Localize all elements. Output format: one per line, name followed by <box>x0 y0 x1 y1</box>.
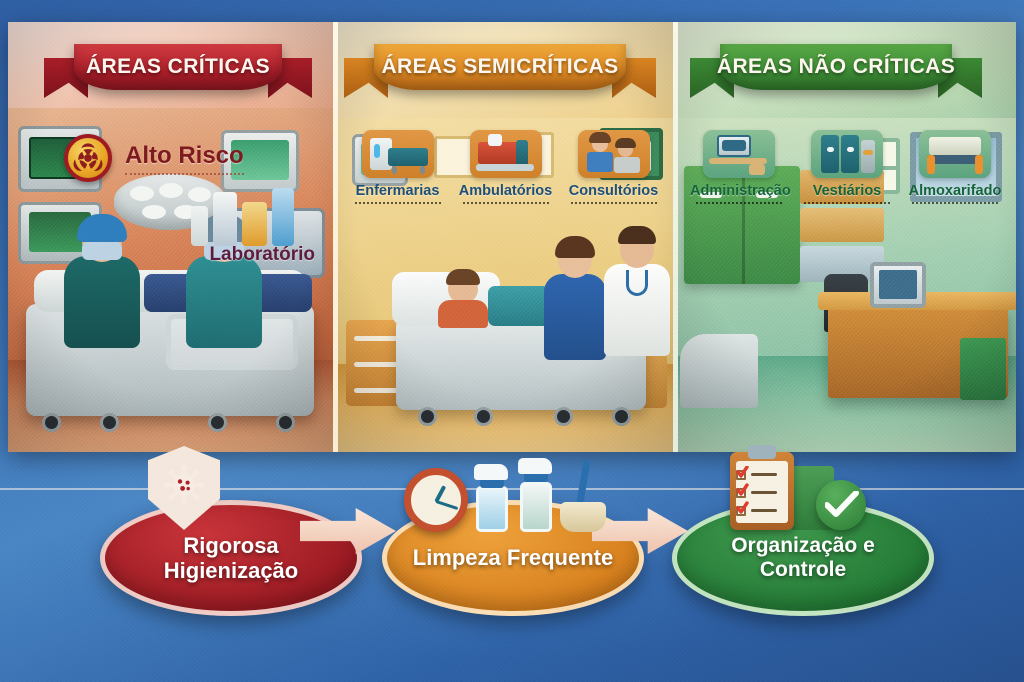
banner-areas-semicriticas: ÁREAS SEMICRÍTICAS <box>344 38 656 96</box>
alto-risco-label: Alto Risco <box>125 142 244 169</box>
nurse-figure <box>544 242 606 360</box>
flow-step-line2: Higienização <box>164 558 298 583</box>
item-ambulatorios[interactable]: Ambulatórios <box>457 130 555 204</box>
item-label: Consultórios <box>565 183 663 199</box>
patient-figure <box>436 274 490 326</box>
biohazard-icon <box>64 134 112 182</box>
semicritical-icon-row: Enfermarias Ambulatórios <box>338 130 673 204</box>
item-label: Administração <box>690 183 788 199</box>
alto-risco-badge: Alto Risco <box>64 134 244 182</box>
doctor-figure <box>604 232 670 356</box>
spray-bottle-icon <box>472 464 512 532</box>
banner-areas-criticas: ÁREAS CRÍTICAS <box>44 38 312 96</box>
banner-label: ÁREAS SEMICRÍTICAS <box>381 55 618 79</box>
cleaning-supplies-group <box>404 458 606 532</box>
medicine-bottles-icon <box>191 184 309 246</box>
flow-step-line1: Limpeza Frequente <box>413 545 613 570</box>
check-circle-icon <box>816 480 866 530</box>
item-label: Ambulatórios <box>457 183 555 199</box>
clipboard-checklist-icon <box>730 452 794 530</box>
banner-label: ÁREAS CRÍTICAS <box>86 55 270 79</box>
process-flow: RigorosaHigienização Limpeza Frequente O… <box>0 452 1024 642</box>
nurse-patient-icon <box>578 130 650 178</box>
spray-bottle-icon <box>516 458 556 532</box>
mop-icon <box>560 460 606 532</box>
clock-icon <box>404 468 468 532</box>
item-enfermarias[interactable]: Enfermarias <box>349 130 447 204</box>
laboratorio-label: Laboratório <box>209 244 315 266</box>
noncritical-icon-row: Administração Vestiários <box>678 130 1016 204</box>
lockers-icon <box>811 130 883 178</box>
storage-bin <box>960 338 1006 400</box>
desktop-computer-icon <box>870 262 926 308</box>
flow-step-line2: Controle <box>731 558 875 582</box>
flow-step-rigorosa-higienizacao[interactable]: RigorosaHigienização <box>100 500 362 616</box>
item-consultorios[interactable]: Consultórios <box>565 130 663 204</box>
flow-step-line1: Rigorosa <box>164 533 298 558</box>
shield-virus-icon <box>148 446 220 530</box>
banner-label: ÁREAS NÃO CRÍTICAS <box>717 55 955 79</box>
infographic-poster: Alto Risco Laboratório <box>0 0 1024 682</box>
item-label: Almoxarifado <box>906 183 1004 199</box>
item-vestiarios[interactable]: Vestiários <box>798 130 896 204</box>
item-administracao[interactable]: Administração <box>690 130 788 204</box>
medical-equipment-icon <box>470 130 542 178</box>
surgeon-figure <box>64 220 140 348</box>
storage-shelf-icon <box>919 130 991 178</box>
hospital-bed-icon <box>362 130 434 178</box>
banner-areas-nao-criticas: ÁREAS NÃO CRÍTICAS <box>690 38 982 96</box>
waiting-chair <box>680 334 758 408</box>
item-label: Vestiários <box>798 183 896 199</box>
alto-risco-label-wrap: Alto Risco <box>125 142 244 175</box>
flow-step-line1: Organização e <box>731 534 875 558</box>
item-almoxarifado[interactable]: Almoxarifado <box>906 130 1004 204</box>
office-desk-icon <box>703 130 775 178</box>
item-label: Enfermarias <box>349 183 447 199</box>
organization-icons-group <box>730 452 866 530</box>
